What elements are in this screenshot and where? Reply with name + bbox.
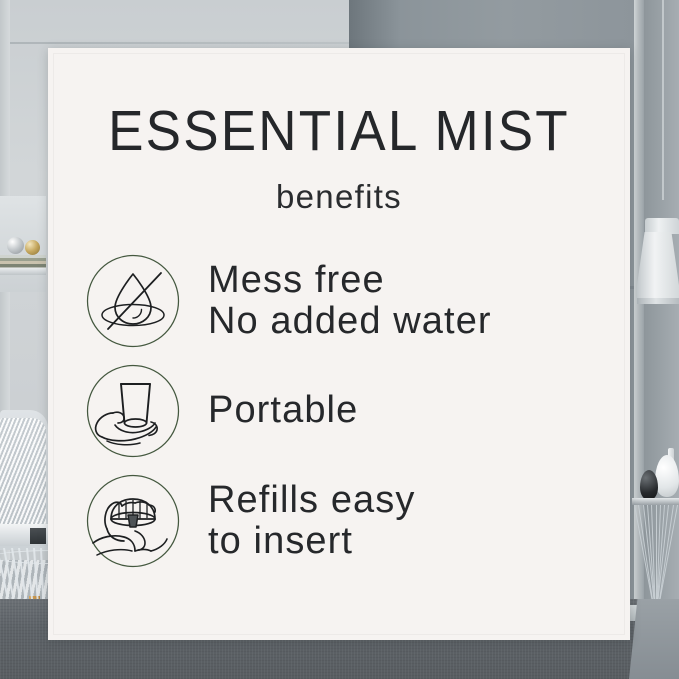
decorative-sphere-silver <box>7 237 24 254</box>
book-stack <box>0 255 46 269</box>
room-scene-background: ESSENTIAL MIST benefits Mess free No add… <box>0 0 679 679</box>
wire-side-table-top <box>632 498 679 505</box>
page-subtitle: benefits <box>48 180 630 213</box>
floor-right-strip <box>629 599 679 679</box>
card-header: ESSENTIAL MIST benefits <box>48 48 630 213</box>
benefit-label: Portable <box>208 390 358 431</box>
hand-holding-diffuser-icon <box>83 361 183 461</box>
benefit-row: Refills easy to insert <box>83 466 630 576</box>
benefit-row: Portable <box>83 356 630 466</box>
shelf-board <box>0 268 46 275</box>
dark-accent-block <box>30 528 46 544</box>
pendant-lamp-rim <box>637 298 679 304</box>
benefit-label: Refills easy to insert <box>208 480 416 562</box>
benefits-list: Mess free No added water <box>48 246 630 576</box>
benefit-label: Mess free No added water <box>208 260 492 342</box>
wall-panel-seam <box>0 42 349 44</box>
pendant-lamp-cap <box>645 218 679 234</box>
benefit-row: Mess free No added water <box>83 246 630 356</box>
hands-inserting-refill-icon <box>83 471 183 571</box>
pendant-lamp-cord <box>662 0 664 200</box>
page-title: ESSENTIAL MIST <box>48 103 630 159</box>
decorative-sphere-gold <box>25 240 40 255</box>
black-vase <box>640 470 658 500</box>
benefits-card: ESSENTIAL MIST benefits Mess free No add… <box>48 48 630 640</box>
no-water-droplet-icon <box>83 251 183 351</box>
pendant-lamp-shade <box>637 232 679 304</box>
